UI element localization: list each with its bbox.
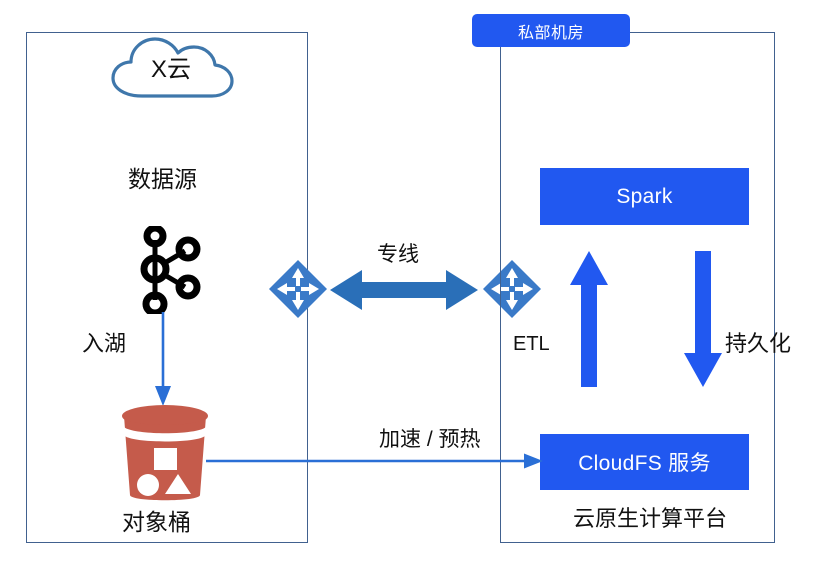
private-datacenter-title: 私部机房 bbox=[472, 14, 630, 47]
cloud-label: X云 bbox=[104, 28, 238, 108]
arrow-right-icon bbox=[206, 452, 544, 470]
double-arrow-icon bbox=[330, 266, 478, 314]
object-bucket-icon bbox=[113, 403, 217, 503]
diagram-canvas: X云 数据源 入湖 对象桶 bbox=[0, 0, 818, 564]
datasource-label: 数据源 bbox=[128, 168, 197, 191]
bucket-label: 对象桶 bbox=[122, 511, 191, 534]
inlake-label: 入湖 bbox=[82, 333, 126, 355]
cloudfs-service-node[interactable]: CloudFS 服务 bbox=[540, 434, 749, 490]
arrow-down-icon bbox=[152, 312, 174, 407]
platform-label: 云原生计算平台 bbox=[573, 508, 727, 530]
spark-node[interactable]: Spark bbox=[540, 168, 749, 225]
spark-label: Spark bbox=[616, 185, 672, 209]
arrow-down-icon bbox=[684, 251, 722, 387]
router-icon bbox=[268, 259, 328, 319]
dedicated-line-label: 专线 bbox=[377, 244, 419, 265]
arrow-up-icon bbox=[570, 251, 608, 387]
node-graph-icon bbox=[133, 226, 205, 314]
persist-label: 持久化 bbox=[725, 333, 791, 355]
accelerate-preheat-label: 加速 / 预热 bbox=[379, 429, 481, 450]
etl-label: ETL bbox=[513, 334, 550, 354]
cloudfs-label: CloudFS 服务 bbox=[578, 447, 711, 477]
